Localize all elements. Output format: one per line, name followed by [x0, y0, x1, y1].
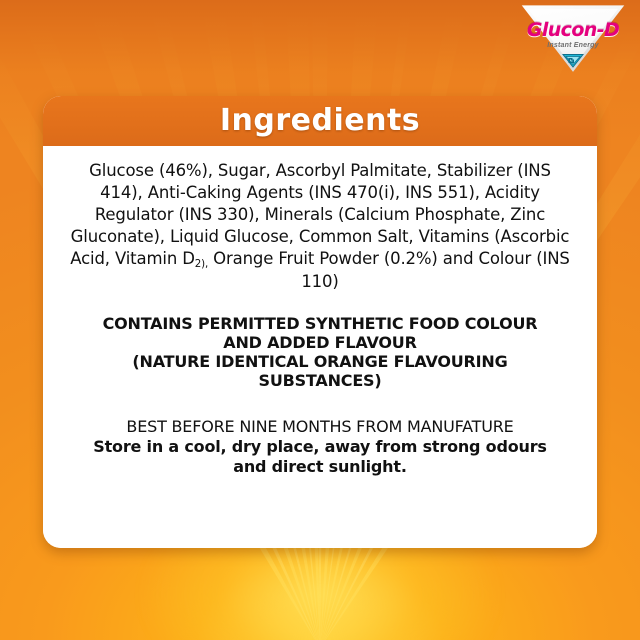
- logo-tagline: Instant Energy: [512, 42, 634, 49]
- declaration-line-3: (NATURE IDENTICAL ORANGE FLAVOURING: [63, 353, 577, 372]
- ingredients-text-part2: Orange Fruit Powder (0.2%) and Colour (I…: [208, 249, 570, 291]
- declaration-block: CONTAINS PERMITTED SYNTHETIC FOOD COLOUR…: [63, 315, 577, 391]
- storage-line-2: and direct sunlight.: [63, 457, 577, 477]
- glucon-d-logo: Glucon-D Instant Energy: [512, 4, 634, 74]
- card-header: Ingredients: [43, 96, 597, 146]
- declaration-line-4: SUBSTANCES): [63, 372, 577, 391]
- declaration-line-2: AND ADDED FLAVOUR: [63, 334, 577, 353]
- best-before-line: BEST BEFORE NINE MONTHS FROM MANUFATURE: [63, 417, 577, 437]
- ingredients-label-panel: Glucon-D Instant Energy Ingredients Gluc…: [0, 0, 640, 640]
- vitamin-d-subscript: 2),: [195, 259, 208, 270]
- gd-monogram-icon: [562, 53, 584, 68]
- storage-block: BEST BEFORE NINE MONTHS FROM MANUFATURE …: [63, 417, 577, 477]
- declaration-line-1: CONTAINS PERMITTED SYNTHETIC FOOD COLOUR: [63, 315, 577, 334]
- card-body: Glucose (46%), Sugar, Ascorbyl Palmitate…: [43, 146, 597, 548]
- logo-brand-name: Glucon-D: [512, 19, 634, 41]
- page-title: Ingredients: [220, 106, 420, 136]
- ingredients-paragraph: Glucose (46%), Sugar, Ascorbyl Palmitate…: [69, 160, 571, 293]
- storage-line-1: Store in a cool, dry place, away from st…: [63, 437, 577, 457]
- ingredients-card: Ingredients Glucose (46%), Sugar, Ascorb…: [43, 96, 597, 548]
